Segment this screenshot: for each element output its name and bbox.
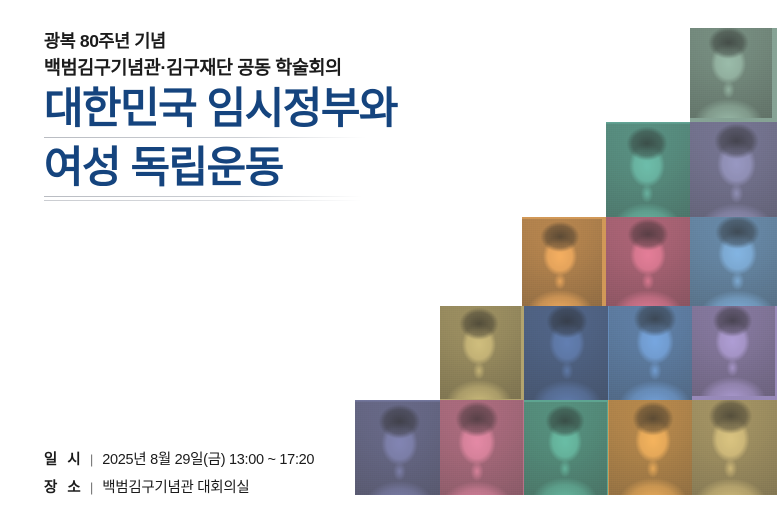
- portrait-photo: [524, 402, 607, 495]
- duotone-wash: [690, 217, 777, 306]
- portrait-r2-c4: [606, 122, 690, 217]
- duotone-highlight: [608, 306, 692, 400]
- duotone-wash: [440, 400, 524, 495]
- duotone-highlight: [355, 400, 440, 495]
- photo-grain: [692, 400, 777, 495]
- duotone-highlight: [690, 122, 777, 217]
- photo-grain: [606, 217, 690, 306]
- portrait-r1-c5: [690, 28, 777, 122]
- photo-grain: [690, 28, 777, 122]
- event-details: 일 시 | 2025년 8월 29일(금) 13:00 ~ 17:20 장 소 …: [44, 448, 314, 504]
- portrait-r5-c1: [355, 400, 440, 495]
- portrait-photo: [440, 400, 523, 495]
- portrait-r4-c4: [608, 306, 692, 400]
- duotone-wash: [690, 122, 777, 217]
- duotone-wash: [608, 306, 692, 400]
- portrait-r5-c2: [440, 400, 524, 495]
- portrait-r2-c5: [690, 122, 777, 217]
- portrait-photo: [690, 28, 772, 118]
- portrait-photo: [692, 400, 777, 495]
- event-date-row: 일 시 | 2025년 8월 29일(금) 13:00 ~ 17:20: [44, 448, 314, 469]
- event-date-label: 일 시: [44, 448, 88, 469]
- duotone-highlight: [690, 217, 777, 306]
- title-divider-lower-a: [44, 196, 362, 197]
- event-venue-row: 장 소 | 백범김구기념관 대회의실: [44, 476, 314, 497]
- portrait-r5-c5: [692, 400, 777, 495]
- photo-grain: [355, 400, 440, 495]
- portrait-r5-c3: [524, 400, 608, 495]
- duotone-highlight: [608, 400, 692, 495]
- duotone-highlight: [606, 122, 690, 217]
- event-venue-value: 백범김구기념관 대회의실: [102, 476, 249, 497]
- duotone-highlight: [524, 400, 608, 495]
- portrait-r4-c5: [692, 306, 777, 400]
- portrait-photo: [522, 219, 602, 306]
- duotone-wash: [522, 217, 606, 306]
- portrait-photo: [609, 306, 692, 400]
- duotone-highlight: [440, 400, 524, 495]
- duotone-wash: [692, 306, 777, 400]
- photo-grain: [692, 306, 777, 400]
- duotone-highlight: [606, 217, 690, 306]
- portrait-r5-c4: [608, 400, 692, 495]
- event-venue-separator: |: [90, 481, 93, 495]
- photo-grain: [690, 217, 777, 306]
- portrait-photo: [355, 402, 440, 495]
- title-divider-upper: [44, 137, 366, 138]
- photo-grain: [690, 122, 777, 217]
- duotone-highlight: [692, 400, 777, 495]
- photo-grain: [608, 400, 692, 495]
- portrait-r4-c2: [440, 306, 524, 400]
- portrait-photo: [524, 306, 608, 400]
- poster-kicker-line-1: 광복 80주년 기념: [44, 28, 166, 53]
- poster-kicker-line-2: 백범김구기념관·김구재단 공동 학술회의: [44, 54, 342, 80]
- photo-grain: [524, 400, 608, 495]
- duotone-highlight: [440, 306, 524, 400]
- duotone-wash: [524, 400, 608, 495]
- photo-grain: [524, 306, 608, 400]
- conference-poster: 광복 80주년 기념 백범김구기념관·김구재단 공동 학술회의 대한민국 임시정…: [0, 0, 780, 519]
- event-date-separator: |: [90, 453, 93, 467]
- photo-grain: [440, 306, 524, 400]
- duotone-wash: [524, 306, 608, 400]
- portrait-photo: [606, 217, 690, 306]
- duotone-highlight: [690, 28, 777, 122]
- title-divider-lower-b: [44, 200, 362, 201]
- duotone-highlight: [692, 306, 777, 400]
- portrait-photo: [690, 217, 777, 306]
- portrait-photo: [692, 306, 775, 396]
- duotone-wash: [690, 28, 777, 122]
- portrait-r3-c3: [522, 217, 606, 306]
- duotone-wash: [606, 122, 690, 217]
- portrait-photo: [606, 124, 690, 217]
- photo-grain: [608, 306, 692, 400]
- portrait-r3-c5: [690, 217, 777, 306]
- duotone-wash: [692, 400, 777, 495]
- poster-title-line-1: 대한민국 임시정부와: [44, 88, 397, 131]
- portrait-photo: [690, 122, 777, 217]
- duotone-highlight: [522, 217, 606, 306]
- photo-grain: [440, 400, 524, 495]
- duotone-wash: [440, 306, 524, 400]
- photo-grain: [606, 122, 690, 217]
- duotone-wash: [355, 400, 440, 495]
- event-date-value: 2025년 8월 29일(금) 13:00 ~ 17:20: [102, 448, 314, 469]
- portrait-photo: [440, 306, 521, 399]
- photo-grain: [522, 217, 606, 306]
- portrait-r4-c3: [524, 306, 608, 400]
- portrait-photo: [609, 400, 692, 495]
- poster-title-line-2: 여성 독립운동: [44, 147, 283, 190]
- event-venue-label: 장 소: [44, 476, 88, 497]
- duotone-wash: [606, 217, 690, 306]
- duotone-wash: [608, 400, 692, 495]
- duotone-highlight: [524, 306, 608, 400]
- portrait-r3-c4: [606, 217, 690, 306]
